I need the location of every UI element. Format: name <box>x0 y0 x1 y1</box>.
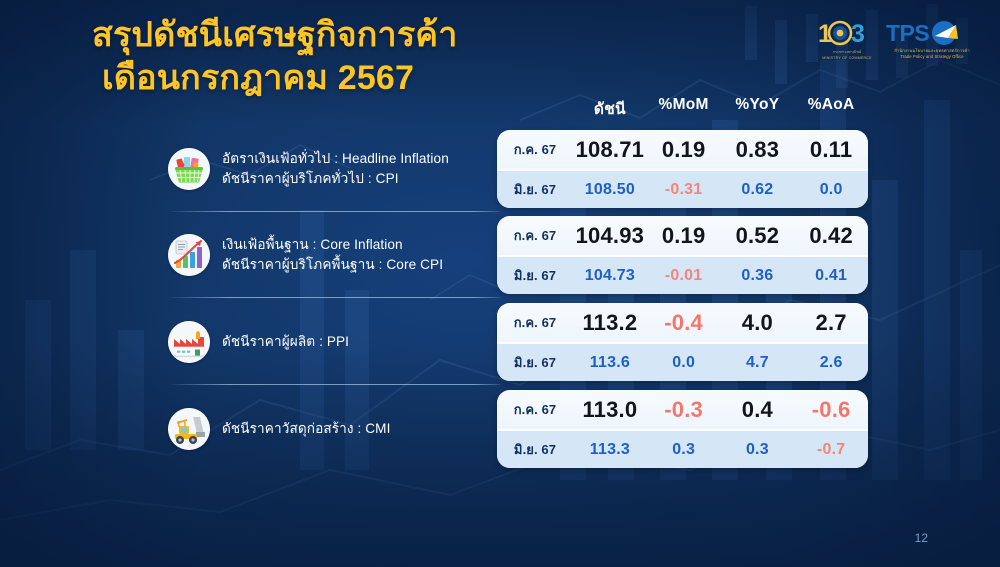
data-line-current: ก.ค. 67 113.0 -0.3 0.4 -0.6 <box>497 390 868 429</box>
cell-yoy: 0.62 <box>721 181 795 199</box>
cell-aoa: 0.11 <box>794 137 868 163</box>
cell-index: 113.2 <box>573 310 647 336</box>
cell-yoy: 4.0 <box>721 310 795 336</box>
tpso-wordmark-icon: TPS <box>886 19 978 47</box>
label-line-2: ดัชนีราคาผู้บริโภคทั่วไป : CPI <box>222 171 399 186</box>
title-line-1: สรุปดัชนีเศรษฐกิจการค้า <box>92 14 458 57</box>
cell-yoy: 0.4 <box>721 397 795 423</box>
cell-period: ก.ค. 67 <box>497 312 573 333</box>
cell-mom: 0.19 <box>647 223 721 249</box>
cell-yoy: 0.52 <box>721 223 795 249</box>
data-line-previous: มิ.ย. 67 113.6 0.0 4.7 2.6 <box>497 342 868 381</box>
data-card: ก.ค. 67 108.71 0.19 0.83 0.11 มิ.ย. 67 1… <box>497 130 868 208</box>
cell-mom: 0.19 <box>647 137 721 163</box>
table-row: ดัชนีราคาผู้ผลิต : PPI ก.ค. 67 113.2 -0.… <box>0 299 1000 385</box>
header-aoa: %AoA <box>794 96 868 121</box>
cell-period: มิ.ย. 67 <box>497 265 573 286</box>
cell-mom: -0.01 <box>647 267 721 285</box>
row-label-text: อัตราเงินเฟ้อทั่วไป : Headline Inflation… <box>222 149 449 189</box>
header-yoy: %YoY <box>721 96 795 121</box>
cell-index: 104.93 <box>573 223 647 249</box>
header-index: ดัชนี <box>573 96 647 121</box>
data-line-current: ก.ค. 67 108.71 0.19 0.83 0.11 <box>497 130 868 169</box>
logo-area: 1 3 กระทรวงพาณิชย์ MINISTRY OF COMMERCE … <box>818 18 978 60</box>
label-line-1: เงินเฟ้อพื้นฐาน : Core Inflation <box>222 237 403 252</box>
factory-icon <box>168 321 210 363</box>
row-label-cmi: ดัชนีราคาวัสดุก่อสร้าง : CMI <box>168 386 498 472</box>
cell-period: มิ.ย. 67 <box>497 439 573 460</box>
cell-aoa: 0.41 <box>794 267 868 285</box>
row-divider <box>170 297 500 298</box>
data-card: ก.ค. 67 113.0 -0.3 0.4 -0.6 มิ.ย. 67 113… <box>497 390 868 468</box>
tpso-caption-en: Trade Policy and Strategy Office <box>900 54 963 59</box>
row-label-headline-inflation: อัตราเงินเฟ้อทั่วไป : Headline Inflation… <box>168 126 498 212</box>
data-line-current: ก.ค. 67 113.2 -0.4 4.0 2.7 <box>497 303 868 342</box>
table-row: เงินเฟ้อพื้นฐาน : Core Inflation ดัชนีรา… <box>0 212 1000 298</box>
cell-aoa: 2.6 <box>794 354 868 372</box>
cell-index: 104.73 <box>573 267 647 285</box>
row-label-core-inflation: เงินเฟ้อพื้นฐาน : Core Inflation ดัชนีรา… <box>168 212 498 298</box>
title-line-2: เดือนกรกฎาคม 2567 <box>92 57 458 100</box>
data-line-previous: มิ.ย. 67 108.50 -0.31 0.62 0.0 <box>497 169 868 208</box>
slide-root: สรุปดัชนีเศรษฐกิจการค้า เดือนกรกฎาคม 256… <box>0 0 1000 567</box>
cell-mom: 0.3 <box>647 441 721 459</box>
cell-yoy: 4.7 <box>721 354 795 372</box>
cell-index: 113.0 <box>573 397 647 423</box>
cell-period: ก.ค. 67 <box>497 139 573 160</box>
excavator-icon <box>168 408 210 450</box>
data-card: ก.ค. 67 113.2 -0.4 4.0 2.7 มิ.ย. 67 113.… <box>497 303 868 381</box>
shopping-basket-icon <box>168 148 210 190</box>
label-line-2: ดัชนีราคาผู้บริโภคพื้นฐาน : Core CPI <box>222 257 443 272</box>
cell-index: 113.3 <box>573 441 647 459</box>
cell-period: ก.ค. 67 <box>497 399 573 420</box>
anniversary-logo: 1 3 กระทรวงพาณิชย์ MINISTRY OF COMMERCE <box>818 18 876 60</box>
anniversary-caption-th: กระทรวงพาณิชย์ <box>833 49 862 55</box>
cell-aoa: 0.42 <box>794 223 868 249</box>
table-row: ดัชนีราคาวัสดุก่อสร้าง : CMI ก.ค. 67 113… <box>0 386 1000 472</box>
bar-chart-growth-icon <box>168 234 210 276</box>
row-divider <box>170 384 500 385</box>
row-label-text: ดัชนีราคาผู้ผลิต : PPI <box>222 332 349 352</box>
label-line-1: ดัชนีราคาวัสดุก่อสร้าง : CMI <box>222 421 390 436</box>
cell-yoy: 0.3 <box>721 441 795 459</box>
label-line-1: อัตราเงินเฟ้อทั่วไป : Headline Inflation <box>222 151 449 166</box>
cell-index: 113.6 <box>573 354 647 372</box>
cell-yoy: 0.36 <box>721 267 795 285</box>
anniversary-103-icon: 1 3 <box>818 18 876 48</box>
svg-text:3: 3 <box>851 20 865 48</box>
page-number: 12 <box>915 531 928 545</box>
cell-aoa: -0.7 <box>794 441 868 459</box>
table-row: อัตราเงินเฟ้อทั่วไป : Headline Inflation… <box>0 126 1000 212</box>
data-card: ก.ค. 67 104.93 0.19 0.52 0.42 มิ.ย. 67 1… <box>497 216 868 294</box>
anniversary-caption-en: MINISTRY OF COMMERCE <box>822 56 871 60</box>
cell-index: 108.71 <box>573 137 647 163</box>
header-date-spacer <box>497 96 573 121</box>
cell-mom: -0.3 <box>647 397 721 423</box>
page-title: สรุปดัชนีเศรษฐกิจการค้า เดือนกรกฎาคม 256… <box>92 14 458 100</box>
cell-index: 108.50 <box>573 181 647 199</box>
row-label-text: เงินเฟ้อพื้นฐาน : Core Inflation ดัชนีรา… <box>222 235 443 275</box>
data-line-previous: มิ.ย. 67 113.3 0.3 0.3 -0.7 <box>497 429 868 468</box>
cell-yoy: 0.83 <box>721 137 795 163</box>
cell-period: มิ.ย. 67 <box>497 352 573 373</box>
cell-mom: -0.31 <box>647 181 721 199</box>
cell-period: ก.ค. 67 <box>497 225 573 246</box>
tpso-caption-th: สำนักงานนโยบายและยุทธศาสตร์การค้า <box>894 48 970 53</box>
cell-mom: -0.4 <box>647 310 721 336</box>
cell-aoa: 0.0 <box>794 181 868 199</box>
label-line-1: ดัชนีราคาผู้ผลิต : PPI <box>222 334 349 349</box>
data-line-current: ก.ค. 67 104.93 0.19 0.52 0.42 <box>497 216 868 255</box>
table-column-headers: ดัชนี %MoM %YoY %AoA <box>497 96 868 121</box>
cell-aoa: 2.7 <box>794 310 868 336</box>
cell-mom: 0.0 <box>647 354 721 372</box>
row-label-text: ดัชนีราคาวัสดุก่อสร้าง : CMI <box>222 419 390 439</box>
cell-aoa: -0.6 <box>794 397 868 423</box>
data-line-previous: มิ.ย. 67 104.73 -0.01 0.36 0.41 <box>497 255 868 294</box>
row-label-ppi: ดัชนีราคาผู้ผลิต : PPI <box>168 299 498 385</box>
svg-text:TPS: TPS <box>886 20 929 46</box>
tpso-logo: TPS สำนักงานนโยบายและยุทธศาสตร์การค้า Tr… <box>886 19 978 60</box>
cell-period: มิ.ย. 67 <box>497 179 573 200</box>
header-mom: %MoM <box>647 96 721 121</box>
